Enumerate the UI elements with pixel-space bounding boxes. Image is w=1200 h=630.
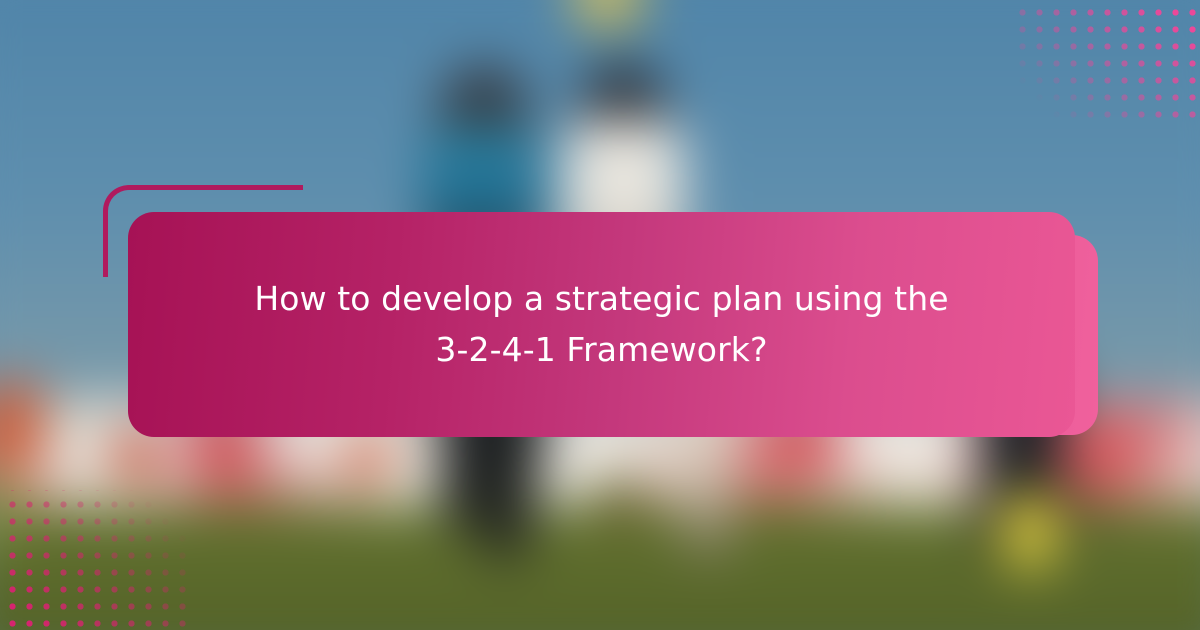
pitch-blob <box>590 480 648 524</box>
title-card: How to develop a strategic plan using th… <box>128 212 1075 437</box>
pitch-blob <box>0 380 46 470</box>
pitch-blob <box>1000 490 1060 570</box>
share-card-image: How to develop a strategic plan using th… <box>0 0 1200 630</box>
pitch-blob <box>348 430 388 486</box>
page-title: How to develop a strategic plan using th… <box>128 274 1075 374</box>
